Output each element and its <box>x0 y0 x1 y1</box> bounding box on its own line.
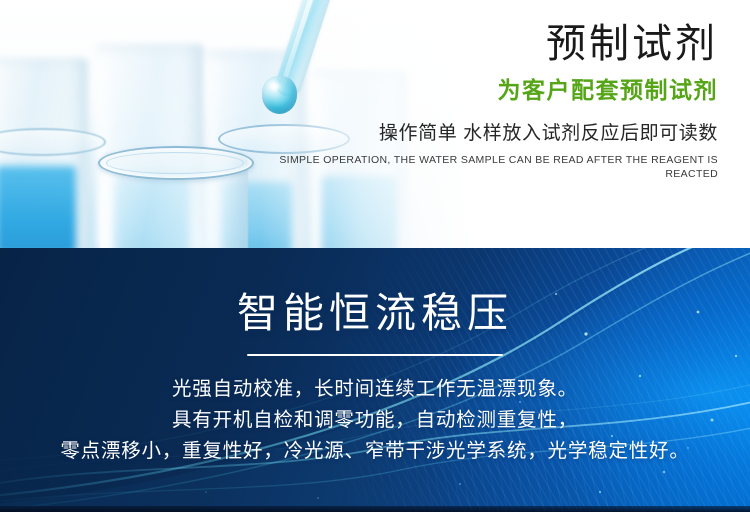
bottom-edge-strip <box>0 506 750 512</box>
description-chinese: 操作简单 水样放入试剂反应后即可读数 <box>248 122 718 146</box>
bottom-text-block: 智能恒流稳压 光强自动校准，长时间连续工作无温漂现象。 具有开机自检和调零功能，… <box>0 248 750 512</box>
page-title: 预制试剂 <box>248 22 718 67</box>
heading-divider <box>247 354 503 356</box>
tube-rim <box>0 128 106 156</box>
product-feature-banner: 预制试剂 为客户配套预制试剂 操作简单 水样放入试剂反应后即可读数 SIMPLE… <box>0 0 750 512</box>
feature-line: 具有开机自检和调零功能，自动检测重复性， <box>0 405 750 436</box>
top-reagent-section: 预制试剂 为客户配套预制试剂 操作简单 水样放入试剂反应后即可读数 SIMPLE… <box>0 0 750 248</box>
blue-liquid <box>0 166 76 248</box>
bottom-heading: 智能恒流稳压 <box>0 292 750 335</box>
description-english: SIMPLE OPERATION, THE WATER SAMPLE CAN B… <box>248 154 718 181</box>
feature-line: 光强自动校准，长时间连续工作无温漂现象。 <box>0 374 750 405</box>
top-text-block: 预制试剂 为客户配套预制试剂 操作简单 水样放入试剂反应后即可读数 SIMPLE… <box>248 22 718 181</box>
page-subtitle: 为客户配套预制试剂 <box>248 77 718 105</box>
beaker-rim-inner <box>106 152 244 174</box>
bottom-tech-section: 智能恒流稳压 光强自动校准，长时间连续工作无温漂现象。 具有开机自检和调零功能，… <box>0 248 750 512</box>
feature-line-list: 光强自动校准，长时间连续工作无温漂现象。 具有开机自检和调零功能，自动检测重复性… <box>0 374 750 467</box>
feature-line: 零点漂移小，重复性好，冷光源、窄带干涉光学系统，光学稳定性好。 <box>0 436 750 467</box>
